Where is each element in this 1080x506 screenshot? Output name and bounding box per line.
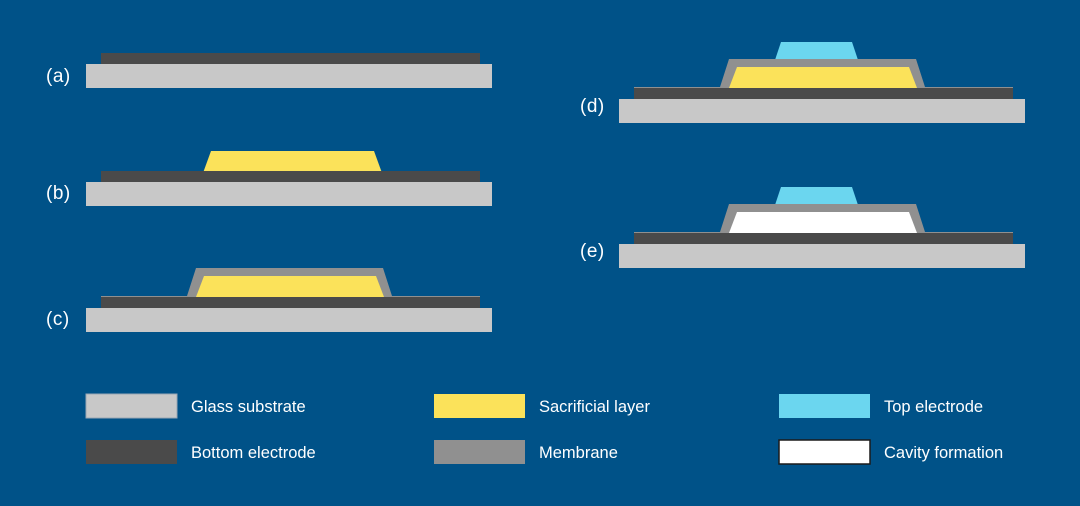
legend-label-top-electrode: Top electrode (884, 398, 983, 416)
legend-item-glass-substrate: Glass substrate (86, 394, 306, 418)
legend-item-bottom-electrode: Bottom electrode (86, 440, 316, 464)
legend-label-glass-substrate: Glass substrate (191, 398, 306, 416)
panel-d-label: (d) (580, 96, 605, 117)
figure-canvas: (a) (b) (c) (d) (e) (0, 0, 1080, 506)
legend-swatch-membrane (434, 440, 525, 464)
panel-c-glass-substrate (86, 308, 492, 332)
panel-b-label: (b) (46, 183, 71, 204)
legend-item-cavity-formation: Cavity formation (779, 440, 1003, 464)
panel-d-glass-substrate (619, 99, 1025, 123)
panel-c-sacrificial-layer (196, 276, 384, 297)
legend-swatch-cavity-formation (779, 440, 870, 464)
panel-e-glass-substrate (619, 244, 1025, 268)
legend-label-sacrificial-layer: Sacrificial layer (539, 398, 650, 416)
process-flow-figure: (a) (b) (c) (d) (e) (0, 0, 1080, 506)
panel-b-bottom-electrode (101, 171, 480, 182)
panel-d-top-electrode (775, 42, 858, 60)
legend-swatch-glass-substrate (86, 394, 177, 418)
legend-label-bottom-electrode: Bottom electrode (191, 444, 316, 462)
panel-a-bottom-electrode (101, 53, 480, 64)
legend-label-membrane: Membrane (539, 444, 618, 462)
legend-swatch-sacrificial-layer (434, 394, 525, 418)
legend-label-cavity-formation: Cavity formation (884, 444, 1003, 462)
panel-e-cavity (729, 212, 917, 233)
panel-d-sacrificial-layer (729, 67, 917, 88)
panel-a-glass-substrate (86, 64, 492, 88)
panel-b-glass-substrate (86, 182, 492, 206)
panel-a: (a) (46, 53, 492, 88)
panel-a-label: (a) (46, 66, 71, 87)
legend-swatch-bottom-electrode (86, 440, 177, 464)
panel-d-bottom-electrode (634, 88, 1013, 99)
panel-e-top-electrode (775, 187, 858, 205)
panel-b-sacrificial-layer (203, 151, 382, 173)
panel-c-label: (c) (46, 309, 70, 330)
panel-e-bottom-electrode (634, 233, 1013, 244)
legend-item-sacrificial-layer: Sacrificial layer (434, 394, 650, 418)
panel-e-label: (e) (580, 241, 605, 262)
panel-c-bottom-electrode (101, 297, 480, 308)
legend-swatch-top-electrode (779, 394, 870, 418)
